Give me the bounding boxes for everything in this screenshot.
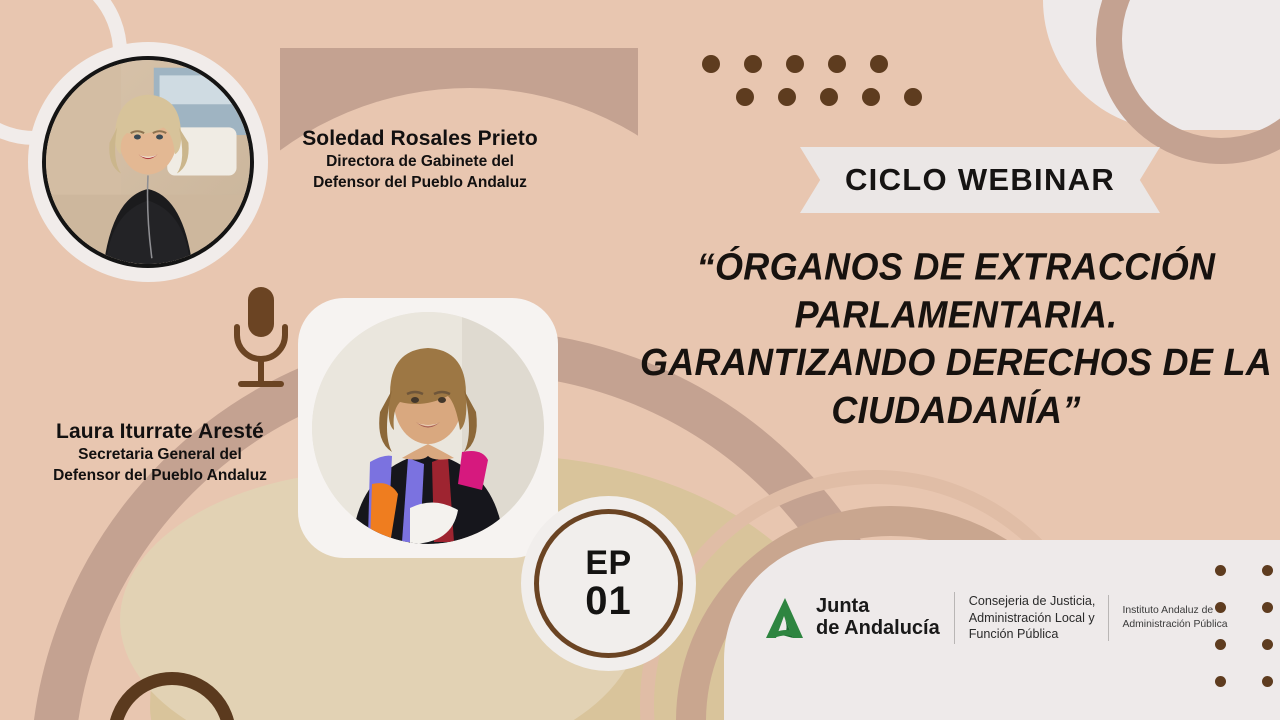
title-line-3: GARANTIZANDO DERECHOS DE LA bbox=[636, 338, 1276, 386]
dot-icon bbox=[1262, 565, 1273, 576]
consejeria-text: Consejeria de Justicia, Administración L… bbox=[969, 593, 1096, 642]
dot-icon bbox=[786, 55, 804, 73]
junta-line-1: Junta bbox=[816, 596, 940, 618]
speaker-1-role-line2: Defensor del Pueblo Andaluz bbox=[268, 174, 572, 193]
speaker-2-role-line2: Defensor del Pueblo Andaluz bbox=[10, 467, 310, 486]
title-line-4: CIUDADANÍA” bbox=[636, 386, 1276, 434]
consejeria-line-3: Función Pública bbox=[969, 626, 1096, 642]
dot-pattern-top bbox=[702, 55, 922, 106]
junta-de-andalucia-logo-icon bbox=[762, 594, 810, 642]
dot-icon bbox=[862, 88, 880, 106]
dot-icon bbox=[1215, 676, 1226, 687]
logo-divider-2 bbox=[1108, 595, 1109, 641]
consejeria-line-1: Consejeria de Justicia, bbox=[969, 593, 1096, 609]
dot-icon bbox=[870, 55, 888, 73]
speaker-1-role-line1: Directora de Gabinete del bbox=[268, 153, 572, 172]
avatar-laura-iturrate-areste bbox=[312, 312, 544, 544]
speaker-1-name: Soledad Rosales Prieto bbox=[268, 127, 572, 151]
instituto-line-2: Administración Pública bbox=[1122, 618, 1227, 632]
dot-row bbox=[702, 55, 922, 73]
dot-icon bbox=[1215, 565, 1226, 576]
dot-icon bbox=[1262, 639, 1273, 650]
consejeria-line-2: Administración Local y bbox=[969, 610, 1096, 626]
speaker-2-role-line1: Secretaria General del bbox=[10, 446, 310, 465]
speaker-2-name: Laura Iturrate Aresté bbox=[10, 420, 310, 444]
dot-icon bbox=[904, 88, 922, 106]
junta-wordmark: Junta de Andalucía bbox=[816, 596, 940, 639]
dot-icon bbox=[1262, 602, 1273, 613]
speaker-2-info: Laura Iturrate Aresté Secretaria General… bbox=[10, 420, 310, 486]
dot-row bbox=[736, 88, 922, 106]
episode-prefix: EP bbox=[585, 546, 631, 580]
dot-icon bbox=[778, 88, 796, 106]
page-title: “ÓRGANOS DE EXTRACCIÓN PARLAMENTARIA. GA… bbox=[636, 243, 1276, 434]
dot-icon bbox=[1262, 676, 1273, 687]
episode-number: 01 bbox=[585, 580, 632, 622]
avatar-soledad-rosales-prieto bbox=[42, 56, 254, 268]
dot-icon bbox=[828, 55, 846, 73]
portrait-image-1 bbox=[46, 60, 250, 264]
instituto-line-1: Instituto Andaluz de bbox=[1122, 604, 1227, 618]
banner-label: CICLO WEBINAR bbox=[845, 162, 1115, 198]
dot-icon bbox=[736, 88, 754, 106]
logo-divider-1 bbox=[954, 592, 955, 644]
speaker-1-info: Soledad Rosales Prieto Directora de Gabi… bbox=[268, 127, 572, 193]
webinar-title-card: Soledad Rosales Prieto Directora de Gabi… bbox=[0, 0, 1280, 720]
junta-line-2: de Andalucía bbox=[816, 618, 940, 640]
ciclo-webinar-banner: CICLO WEBINAR bbox=[800, 147, 1160, 213]
instituto-text: Instituto Andaluz de Administración Públ… bbox=[1122, 604, 1227, 631]
microphone-icon bbox=[222, 285, 300, 393]
title-line-2: PARLAMENTARIA. bbox=[636, 290, 1276, 338]
dot-icon bbox=[820, 88, 838, 106]
institutional-logo-bar: Junta de Andalucía Consejeria de Justici… bbox=[762, 592, 1228, 644]
dot-icon bbox=[702, 55, 720, 73]
episode-badge: EP 01 bbox=[534, 509, 683, 658]
title-line-1: “ÓRGANOS DE EXTRACCIÓN bbox=[636, 243, 1276, 291]
portrait-image-2 bbox=[312, 312, 544, 544]
dot-icon bbox=[744, 55, 762, 73]
